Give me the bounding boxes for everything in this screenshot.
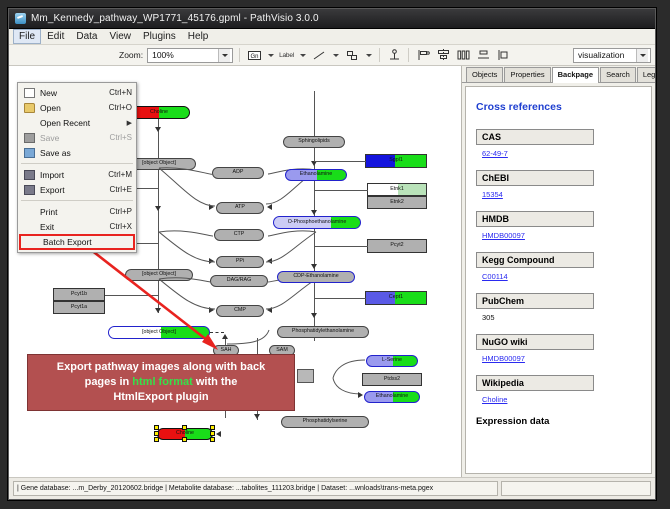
statusbar: | Gene database: ...m_Derby_20120602.bri…: [9, 477, 655, 499]
zoom-label: Zoom:: [119, 50, 143, 60]
spacer-icon: [22, 117, 36, 129]
expression-data-title: Expression data: [476, 416, 641, 427]
xref-value-wikipedia[interactable]: Choline: [482, 395, 641, 404]
xref-source-pubchem: PubChem: [476, 293, 594, 309]
menu-item-open-recent-label: Open Recent: [40, 118, 127, 128]
xref-source-nugo: NuGO wiki: [476, 334, 594, 350]
node-choline-top[interactable]: Choline: [128, 106, 190, 119]
visualization-value: visualization: [578, 50, 636, 60]
menu-item-print-label: Print: [40, 207, 110, 217]
cross-references-title: Cross references: [476, 101, 641, 113]
menu-item-batch-export[interactable]: Batch Export: [19, 234, 135, 250]
spacer-icon-2: [22, 206, 36, 218]
toolbar-separator-2: [379, 48, 380, 62]
xref-source-kegg: Kegg Compound: [476, 252, 594, 268]
selection-handle-nw[interactable]: [154, 425, 159, 430]
annotation-line-2: pages in html format with the: [85, 375, 238, 390]
sidebar-tabs: Objects Properties Backpage Search Legen…: [462, 66, 655, 83]
menu-item-exit[interactable]: Exit Ctrl+X: [18, 219, 136, 234]
tab-backpage[interactable]: Backpage: [552, 67, 599, 83]
menu-item-import-accel: Ctrl+M: [108, 170, 132, 179]
zoom-combobox[interactable]: 100%: [147, 48, 233, 63]
arrow-to-choline-selected: [216, 431, 221, 437]
menu-item-save: Save Ctrl+S: [18, 130, 136, 145]
group-tool-icon[interactable]: [495, 47, 511, 63]
arrow-choline-to-phosphocholine: [155, 127, 161, 132]
menu-item-open-accel: Ctrl+O: [109, 103, 132, 112]
node-sphingolipids[interactable]: Sphingolipids: [283, 136, 345, 148]
menu-item-print-accel: Ctrl+P: [110, 207, 132, 216]
gene-link-pcyt2: [314, 246, 368, 247]
selection-handle-sw[interactable]: [154, 437, 159, 442]
xref-value-chebi[interactable]: 15354: [482, 190, 641, 199]
menu-item-save-as[interactable]: Save as: [18, 145, 136, 160]
tab-properties[interactable]: Properties: [504, 67, 550, 82]
menubar: File Edit Data View Plugins Help: [9, 29, 655, 45]
folder-open-icon: [22, 102, 36, 114]
menu-item-print[interactable]: Print Ctrl+P: [18, 204, 136, 219]
gene-etnk2[interactable]: Etnk2: [367, 196, 427, 209]
menu-item-save-label: Save: [40, 133, 110, 143]
datanode-dropdown-icon[interactable]: [266, 48, 275, 62]
gene-ptdss2[interactable]: Ptdss2: [362, 373, 422, 386]
save-as-icon: [22, 147, 36, 159]
xref-value-kegg[interactable]: C00114: [482, 272, 641, 281]
status-extra-field: [501, 481, 651, 496]
xref-value-hmdb[interactable]: HMDB00097: [482, 231, 641, 240]
annotation-line-2a: pages in: [85, 376, 133, 388]
menu-item-import-label: Import: [40, 170, 108, 180]
window-title: Mm_Kennedy_pathway_WP1771_45176.gpml - P…: [31, 13, 319, 24]
xref-source-cas: CAS: [476, 129, 594, 145]
node-o-phosphoethanolamine[interactable]: O-Phosphoethanolamine: [273, 216, 361, 229]
datanode-tool-icon[interactable]: Gn: [246, 47, 262, 63]
chevron-down-icon[interactable]: [218, 49, 230, 62]
submenu-arrow-icon: ▶: [127, 119, 132, 127]
anchor-tool-icon[interactable]: [386, 47, 402, 63]
menu-item-save-as-label: Save as: [40, 148, 132, 158]
align-left-tool-icon[interactable]: [415, 47, 431, 63]
align-center-tool-icon[interactable]: [435, 47, 451, 63]
annotation-highlight: html format: [132, 376, 193, 388]
menu-separator-1: [21, 163, 133, 164]
xref-value-pubchem: 305: [482, 313, 641, 322]
screenshot-frame: Mm_Kennedy_pathway_WP1771_45176.gpml - P…: [0, 0, 670, 509]
xref-value-nugo[interactable]: HMDB00097: [482, 354, 641, 363]
node-l-serine[interactable]: L-Serine: [366, 355, 418, 367]
line-dropdown-icon[interactable]: [331, 48, 340, 62]
menu-item-exit-label: Exit: [40, 222, 110, 232]
gene-link-etnk: [314, 190, 368, 191]
menu-item-batch-export-label: Batch Export: [43, 237, 129, 247]
menu-item-exit-accel: Ctrl+X: [110, 222, 132, 231]
selection-handle-e[interactable]: [210, 431, 215, 436]
tab-objects[interactable]: Objects: [466, 67, 503, 82]
distribute-tool-icon[interactable]: [455, 47, 471, 63]
selection-handle-ne[interactable]: [210, 425, 215, 430]
tab-legend[interactable]: Legend: [637, 67, 656, 82]
tab-search[interactable]: Search: [600, 67, 636, 82]
arrow-to-ethanolamine-2: [358, 392, 363, 398]
status-databases: | Gene database: ...m_Derby_20120602.bri…: [13, 481, 498, 496]
file-menu-popup[interactable]: New Ctrl+N Open Ctrl+O Open Recent ▶ Sav…: [17, 82, 137, 253]
node-phosphatidylserine[interactable]: Phosphatidylserine: [281, 416, 369, 428]
arrow-ethanolamine-to-ophospho: [311, 210, 317, 215]
pathvisio-icon: [15, 13, 26, 24]
arrow-down-to-ptdserine: [254, 414, 260, 419]
new-file-icon: [22, 87, 36, 99]
xref-source-hmdb: HMDB: [476, 211, 594, 227]
svg-text:Gn: Gn: [250, 54, 258, 60]
node-ethanolamine[interactable]: Ethanolamine: [285, 169, 347, 181]
reaction-anchor-box[interactable]: [297, 369, 314, 383]
stack-tool-icon[interactable]: [475, 47, 491, 63]
menu-item-open-recent[interactable]: Open Recent ▶: [18, 115, 136, 130]
import-icon: [22, 169, 36, 181]
selection-handle-w[interactable]: [154, 431, 159, 436]
export-icon: [22, 184, 36, 196]
menu-plugins[interactable]: Plugins: [137, 29, 182, 44]
chevron-down-icon-2[interactable]: [636, 49, 648, 62]
sidebar-panel: Objects Properties Backpage Search Legen…: [462, 66, 655, 477]
menu-item-save-accel: Ctrl+S: [110, 133, 132, 142]
menu-item-export-accel: Ctrl+E: [110, 185, 132, 194]
xref-source-chebi: ChEBI: [476, 170, 594, 186]
menu-data[interactable]: Data: [70, 29, 103, 44]
shape-tool-icon[interactable]: [344, 47, 360, 63]
menu-item-new-label: New: [40, 88, 109, 98]
gene-cept1[interactable]: Cept1: [365, 291, 427, 305]
selection-handle-n[interactable]: [182, 425, 187, 430]
line-tool-icon[interactable]: [311, 47, 327, 63]
selection-handle-se[interactable]: [210, 437, 215, 442]
save-icon: [22, 132, 36, 144]
toolbar: Zoom: 100% Gn Label: [9, 45, 655, 66]
red-annotation-arrow: [84, 244, 234, 364]
selection-handle-s[interactable]: [182, 437, 187, 442]
curve-adp-atp: [157, 166, 227, 216]
annotation-line-3: HtmlExport plugin: [113, 390, 208, 405]
gene-sgpl1[interactable]: Sgpl1: [365, 154, 427, 168]
backpage-content[interactable]: Cross references CAS 62-49-7 ChEBI 15354…: [465, 86, 652, 474]
toolbar-separator-3: [408, 48, 409, 62]
gene-link-sgpl1: [314, 161, 366, 162]
pathvisio-window: Mm_Kennedy_pathway_WP1771_45176.gpml - P…: [8, 8, 656, 500]
annotation-line-2b: with the: [193, 376, 238, 388]
zoom-value: 100%: [152, 50, 218, 60]
gene-pcyt2[interactable]: Pcyt2: [367, 239, 427, 253]
menu-item-open[interactable]: Open Ctrl+O: [18, 100, 136, 115]
annotation-callout: Export pathway images along with back pa…: [27, 354, 295, 411]
spacer-icon-4: [25, 236, 39, 248]
menu-item-new-accel: Ctrl+N: [109, 88, 132, 97]
shape-dropdown-icon[interactable]: [364, 48, 373, 62]
node-cdp-ethanolamine[interactable]: CDP-Ethanolamine: [277, 271, 355, 283]
menu-edit[interactable]: Edit: [41, 29, 70, 44]
arrow-ophospho-to-cdpeth: [311, 264, 317, 269]
label-tool-icon[interactable]: Label: [279, 52, 294, 59]
menu-item-open-label: Open: [40, 103, 109, 113]
gene-etnk1[interactable]: Etnk1: [367, 183, 427, 196]
menu-help[interactable]: Help: [182, 29, 215, 44]
toolbar-separator: [239, 48, 240, 62]
menu-item-export-label: Export: [40, 185, 110, 195]
menu-item-export[interactable]: Export Ctrl+E: [18, 182, 136, 197]
gene-link-cept1: [314, 298, 366, 299]
annotation-line-1: Export pathway images along with back: [57, 360, 265, 375]
xref-value-cas[interactable]: 62-49-7: [482, 149, 641, 158]
xref-source-wikipedia: Wikipedia: [476, 375, 594, 391]
menu-item-import[interactable]: Import Ctrl+M: [18, 167, 136, 182]
label-dropdown-icon[interactable]: [298, 48, 307, 62]
spacer-icon-3: [22, 221, 36, 233]
menu-item-new[interactable]: New Ctrl+N: [18, 85, 136, 100]
window-titlebar: Mm_Kennedy_pathway_WP1771_45176.gpml - P…: [9, 9, 655, 29]
menu-view[interactable]: View: [103, 29, 137, 44]
node-ethanolamine-2[interactable]: Ethanolamine: [364, 391, 420, 403]
arrow-cdpeth-to-ptdeth: [311, 313, 317, 318]
visualization-combobox[interactable]: visualization: [573, 48, 651, 63]
menu-file[interactable]: File: [13, 29, 41, 44]
menu-separator-2: [21, 200, 133, 201]
